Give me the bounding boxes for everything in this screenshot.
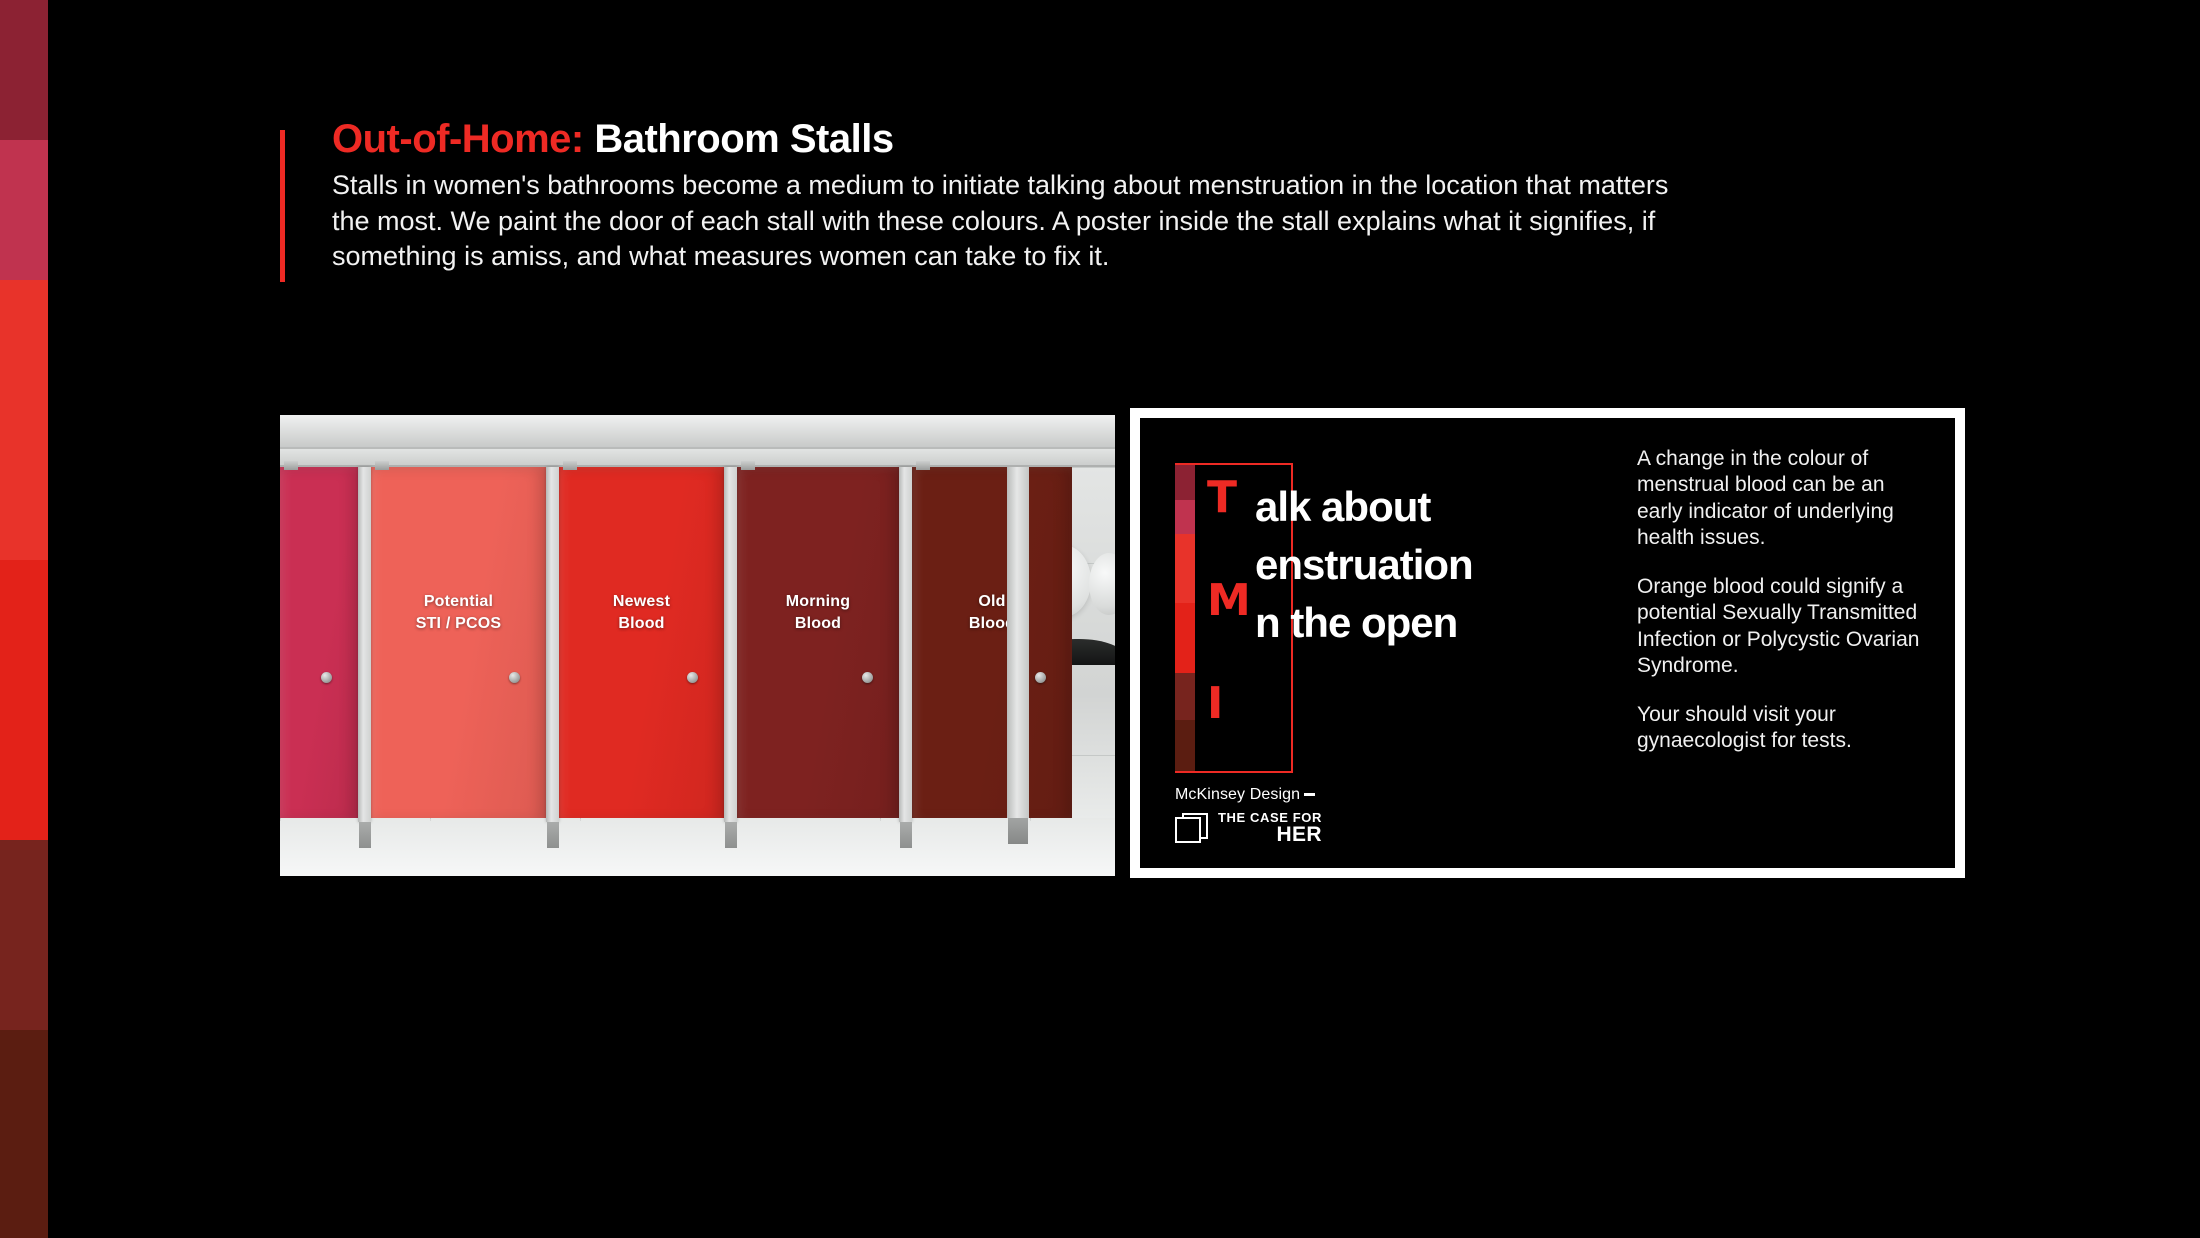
door-latch-icon [509,672,520,683]
stall-divider [358,467,371,822]
palette-band-dark-brown-red [0,1030,48,1238]
stall-door-label: Morning Blood [737,591,899,634]
door-hinge-icon [375,461,389,470]
stall-divider [724,467,737,822]
palette-band-brick-red [0,840,48,1030]
tmi-letter-m: M [1207,579,1255,623]
stall-door-label: Newest Blood [559,591,724,634]
poster-panel: T M I alk about enstruation n the open A… [1130,408,1965,878]
stall-door: Morning Blood [737,467,899,822]
page-title: Out-of-Home: Bathroom Stalls [332,118,1700,160]
stall-door: Old Blood [912,467,1072,822]
stall-door [280,467,358,822]
poster-paragraph-1: A change in the colour of menstrual bloo… [1637,446,1925,552]
door-hinge-icon [741,461,755,470]
stall-end-post [1007,467,1029,818]
stall-door: Newest Blood [559,467,724,822]
stall-divider [899,467,912,822]
case-for-her-line2: HER [1218,824,1322,846]
ceiling-band [280,415,1115,449]
stall-door-row: Potential STI / PCOSNewest BloodMorning … [280,467,1115,822]
door-latch-icon [321,672,332,683]
case-for-her-square-icon [1175,813,1209,843]
mckinsey-mark-icon [1304,793,1315,796]
poster-body-text: A change in the colour of menstrual bloo… [1637,446,1925,755]
ceiling-band-secondary [280,449,1115,467]
square-front-icon [1175,817,1201,843]
stall-photo: Potential STI / PCOSNewest BloodMorning … [280,415,1115,876]
poster-palette-band-dark-brown-red [1175,720,1195,771]
case-for-her-text: THE CASE FOR HER [1218,811,1322,846]
door-hinge-icon [284,461,298,470]
palette-band-dark-maroon [0,0,48,140]
palette-band-red-orange [0,280,48,560]
case-for-her-line1: THE CASE FOR [1218,811,1322,825]
page-title-accent: Out-of-Home: [332,117,584,161]
poster-paragraph-2: Orange blood could signify a potential S… [1637,574,1925,680]
page-title-main: Bathroom Stalls [594,117,893,161]
stall-door: Potential STI / PCOS [371,467,546,822]
palette-band-pure-red [0,560,48,840]
poster-inner: T M I alk about enstruation n the open A… [1140,418,1955,868]
door-hinge-icon [916,461,930,470]
palette-strip [0,0,48,1238]
mckinsey-design-logo: McKinsey Design [1175,786,1322,804]
door-hinge-icon [563,461,577,470]
stall-divider [546,467,559,822]
tile-floor [280,818,1115,876]
heading-block: Out-of-Home: Bathroom Stalls Stalls in w… [280,118,1700,275]
tmi-letter-i: I [1207,682,1255,726]
door-latch-icon [862,672,873,683]
title-accent-bar [280,130,285,282]
palette-band-crimson-pink [0,140,48,280]
mckinsey-design-label: McKinsey Design [1175,786,1300,804]
case-for-her-logo: THE CASE FOR HER [1175,811,1322,846]
poster-logo-group: McKinsey Design THE CASE FOR HER [1175,786,1322,846]
tmi-letter-column: T M I [1175,476,1255,726]
door-latch-icon [1035,672,1046,683]
stall-door-label: Old Blood [912,591,1072,634]
stall-door-label: Potential STI / PCOS [371,591,546,634]
door-latch-icon [687,672,698,683]
page-subtitle: Stalls in women's bathrooms become a med… [332,168,1672,275]
tmi-letter-t: T [1207,476,1255,520]
poster-paragraph-3: Your should visit your gynaecologist for… [1637,702,1925,755]
